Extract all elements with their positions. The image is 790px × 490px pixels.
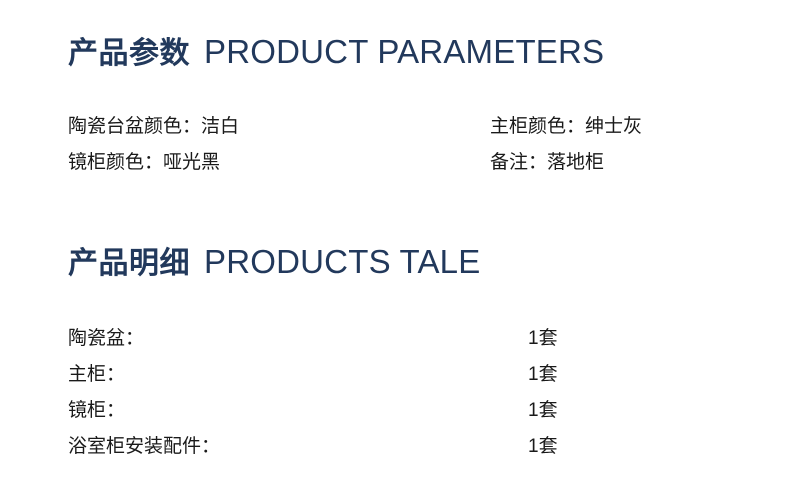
param-mirror-cabinet-color: 镜柜颜色：哑光黑 xyxy=(68,153,490,172)
detail-item-ceramic-basin-label: 陶瓷盆： xyxy=(68,329,528,348)
list-item: 镜柜： 1套 xyxy=(68,392,568,428)
parameters-table: 陶瓷台盆颜色：洁白 主柜颜色：绅士灰 镜柜颜色：哑光黑 备注：落地柜 xyxy=(68,108,708,180)
section-heading-details-en: PRODUCTS TALE xyxy=(204,245,480,278)
list-item: 主柜： 1套 xyxy=(68,356,568,392)
detail-item-mirror-cabinet-label: 镜柜： xyxy=(68,401,528,420)
section-heading-details: 产品明细 PRODUCTS TALE xyxy=(68,245,480,279)
detail-item-ceramic-basin-qty: 1套 xyxy=(528,329,558,348)
detail-item-mirror-cabinet-qty: 1套 xyxy=(528,401,558,420)
detail-item-install-accessories-label: 浴室柜安装配件： xyxy=(68,437,528,456)
detail-item-install-accessories-qty: 1套 xyxy=(528,437,558,456)
detail-item-main-cabinet-label: 主柜： xyxy=(68,365,528,384)
param-remark: 备注：落地柜 xyxy=(490,153,708,172)
section-heading-details-cn: 产品明细 xyxy=(68,249,190,279)
section-heading-parameters-cn: 产品参数 xyxy=(68,39,190,69)
product-spec-page: 产品参数 PRODUCT PARAMETERS 陶瓷台盆颜色：洁白 主柜颜色：绅… xyxy=(0,0,790,490)
table-row: 镜柜颜色：哑光黑 备注：落地柜 xyxy=(68,144,708,180)
list-item: 陶瓷盆： 1套 xyxy=(68,320,568,356)
details-list: 陶瓷盆： 1套 主柜： 1套 镜柜： 1套 浴室柜安装配件： 1套 xyxy=(68,320,568,464)
section-heading-parameters: 产品参数 PRODUCT PARAMETERS xyxy=(68,35,604,69)
detail-item-main-cabinet-qty: 1套 xyxy=(528,365,558,384)
table-row: 陶瓷台盆颜色：洁白 主柜颜色：绅士灰 xyxy=(68,108,708,144)
list-item: 浴室柜安装配件： 1套 xyxy=(68,428,568,464)
param-ceramic-basin-color: 陶瓷台盆颜色：洁白 xyxy=(68,117,490,136)
param-main-cabinet-color: 主柜颜色：绅士灰 xyxy=(490,117,708,136)
section-heading-parameters-en: PRODUCT PARAMETERS xyxy=(204,35,604,68)
